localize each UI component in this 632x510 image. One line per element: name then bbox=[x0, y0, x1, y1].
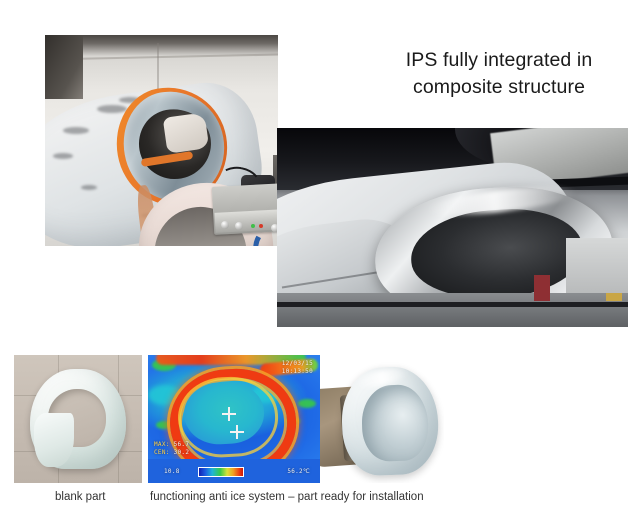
surface-smudge bbox=[81, 185, 97, 190]
psu-knob bbox=[221, 221, 229, 229]
thermal-readings: MAX: 56.7CEN: 30.2 bbox=[154, 441, 189, 457]
slide-canvas: IPS fully integrated in composite struct… bbox=[0, 0, 632, 510]
psu-led-green bbox=[251, 224, 255, 228]
thermal-scale-min: 10.8 bbox=[164, 468, 180, 476]
thermal-scale-max: 56.2℃ bbox=[287, 468, 310, 476]
page-title: IPS fully integrated in composite struct… bbox=[370, 47, 628, 101]
surface-smudge bbox=[97, 105, 127, 113]
thermal-max-marker bbox=[222, 407, 236, 421]
thermal-warm-spot bbox=[298, 399, 316, 408]
thermal-timestamp: 12/03/1510:13:50 bbox=[282, 360, 313, 376]
blank-ring-front-face bbox=[34, 413, 74, 467]
thermal-center-marker bbox=[230, 425, 244, 439]
photo-thermal-infrared: 12/03/1510:13:50 MAX: 56.7CEN: 30.2 10.8… bbox=[148, 355, 320, 483]
hangar-floor bbox=[277, 293, 628, 327]
photo-nacelle-open-inlet bbox=[45, 35, 278, 246]
thermal-timestamp-time: 10:13:50 bbox=[282, 368, 313, 375]
thermal-cen-value: 30.2 bbox=[174, 449, 190, 456]
thermal-timestamp-date: 12/03/15 bbox=[282, 360, 313, 367]
thermal-colorbar bbox=[198, 467, 244, 477]
caption-blank-part: blank part bbox=[55, 491, 106, 503]
yellow-equipment-box bbox=[606, 293, 622, 301]
photo-metallic-inlet-lip bbox=[277, 128, 628, 327]
page-title-line-2: composite structure bbox=[370, 74, 628, 101]
surface-smudge bbox=[53, 153, 73, 159]
caption-functioning-system: functioning anti ice system – part ready… bbox=[150, 491, 424, 503]
photo-finished-part bbox=[320, 355, 444, 483]
dark-doorway bbox=[45, 35, 83, 99]
floor-rail bbox=[277, 302, 628, 307]
finished-ring-opening bbox=[361, 384, 430, 462]
psu-knob bbox=[235, 222, 243, 230]
photo-blank-part bbox=[14, 355, 142, 483]
surface-smudge bbox=[63, 127, 89, 134]
thermal-cen-label: CEN: bbox=[154, 449, 170, 456]
thermal-max-label: MAX: bbox=[154, 441, 170, 448]
thermal-max-value: 56.7 bbox=[174, 441, 190, 448]
red-equipment-box bbox=[534, 275, 550, 301]
inlet-inner-wall bbox=[163, 112, 210, 153]
page-title-line-1: IPS fully integrated in bbox=[370, 47, 628, 74]
